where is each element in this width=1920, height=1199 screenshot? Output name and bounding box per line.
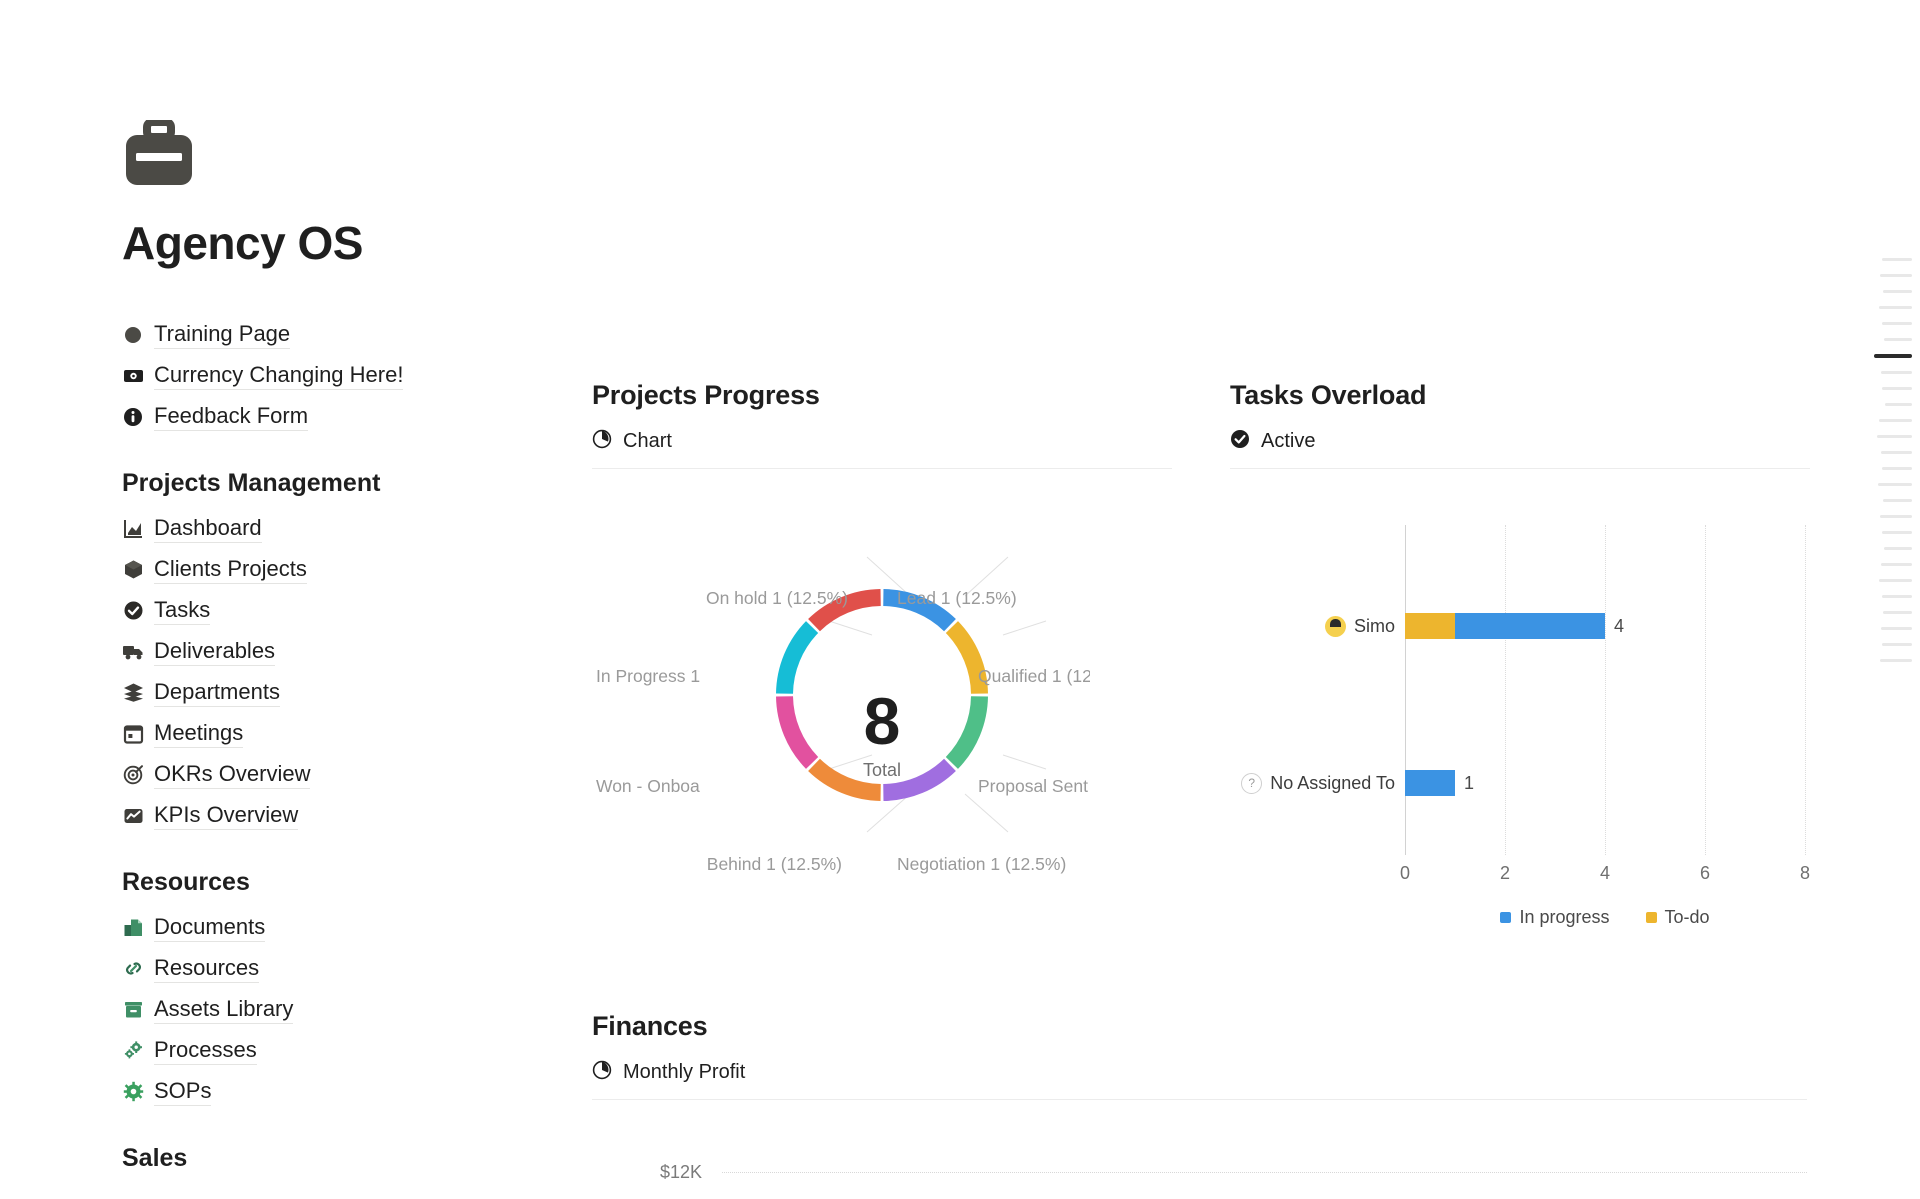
sidebar-item-label: KPIs Overview <box>154 801 298 831</box>
bar-category-no-assigned-to: ? No Assigned To <box>1241 770 1395 796</box>
layers-icon <box>122 682 144 704</box>
tab-label: Monthly Profit <box>623 1061 745 1084</box>
briefcase-icon <box>122 120 196 186</box>
minimap-line[interactable] <box>1881 627 1912 630</box>
link-icon <box>122 958 144 980</box>
x-tick-label: 8 <box>1800 863 1810 884</box>
sidebar-item-meetings[interactable]: Meetings <box>122 713 542 754</box>
sidebar-item-label: Feedback Form <box>154 402 308 432</box>
minimap-line[interactable] <box>1881 563 1912 566</box>
x-tick-label: 6 <box>1700 863 1710 884</box>
sidebar-item-assets-library[interactable]: Assets Library <box>122 989 542 1030</box>
minimap-line[interactable] <box>1879 579 1912 582</box>
bar-plot-area: Simo 4 ? No Assigned To <box>1405 525 1805 855</box>
minimap-line[interactable] <box>1879 306 1912 309</box>
bar-legend: In progress To-do <box>1405 907 1805 928</box>
projects-progress-title: Projects Progress <box>592 380 1172 411</box>
minimap-line[interactable] <box>1880 274 1912 277</box>
tab-label: Chart <box>623 430 672 453</box>
check-circle-icon <box>122 600 144 622</box>
gears-icon <box>122 1040 144 1062</box>
grid-line-2 <box>1505 525 1506 855</box>
bar-segment-in-progress <box>1405 770 1455 796</box>
pie-chart-icon <box>592 429 612 454</box>
table-row[interactable]: Simo 4 <box>1405 613 1624 639</box>
tab-label: Active <box>1261 430 1315 453</box>
question-mark-icon: ? <box>1241 773 1262 794</box>
sidebar-item-training-page[interactable]: Training Page <box>122 314 542 355</box>
bar-value-label: 4 <box>1614 616 1624 637</box>
projects-progress-card: Projects Progress Chart <box>592 380 1172 925</box>
minimap-line[interactable] <box>1882 531 1912 534</box>
grid-line-6 <box>1705 525 1706 855</box>
x-tick-label: 2 <box>1500 863 1510 884</box>
monthly-profit-chart[interactable]: $12K <box>592 1134 1807 1194</box>
minimap-line[interactable] <box>1878 483 1912 486</box>
sidebar-item-clients-projects[interactable]: Clients Projects <box>122 549 542 590</box>
sidebar-item-label: Training Page <box>154 320 290 350</box>
legend-item-to-do[interactable]: To-do <box>1646 907 1710 928</box>
legend-swatch-icon <box>1500 912 1511 923</box>
minimap-line-active[interactable] <box>1874 354 1912 358</box>
sidebar-group-resources: Resources Documents <box>122 868 542 1112</box>
sidebar-item-documents[interactable]: Documents <box>122 907 542 948</box>
package-icon <box>122 559 144 581</box>
minimap-line[interactable] <box>1883 290 1912 293</box>
sidebar-item-label: Dashboard <box>154 514 262 544</box>
grid-line-0 <box>1405 525 1406 855</box>
sidebar-item-label: Meetings <box>154 719 243 749</box>
minimap-line[interactable] <box>1882 322 1912 325</box>
bar-segment-to-do <box>1405 613 1455 639</box>
sidebar-group-sales: Sales <box>122 1144 542 1173</box>
bar-segment-in-progress <box>1455 613 1605 639</box>
sidebar-item-label: Departments <box>154 678 280 708</box>
minimap-line[interactable] <box>1882 387 1912 390</box>
tasks-overload-title: Tasks Overload <box>1230 380 1810 411</box>
grid-line <box>722 1172 1807 1173</box>
legend-item-in-progress[interactable]: In progress <box>1500 907 1609 928</box>
sidebar-item-label: Deliverables <box>154 637 275 667</box>
projects-donut-chart[interactable]: 8 Total Lead 1 (12.5%) Qualified 1 (12 P… <box>592 495 1172 925</box>
sidebar-item-label: Tasks <box>154 596 210 626</box>
legend-label: To-do <box>1665 907 1710 928</box>
donut-slice-qualified[interactable] <box>946 621 988 694</box>
pie-chart-icon <box>592 1060 612 1085</box>
minimap-line[interactable] <box>1883 499 1912 502</box>
minimap-line[interactable] <box>1881 451 1912 454</box>
sidebar-item-label: Processes <box>154 1036 257 1066</box>
tab-chart[interactable]: Chart <box>592 429 1172 469</box>
gear-icon <box>122 1081 144 1103</box>
minimap-line[interactable] <box>1882 643 1912 646</box>
minimap-line[interactable] <box>1883 611 1912 614</box>
bar-chart-icon <box>122 518 144 540</box>
bar-category-label: No Assigned To <box>1270 773 1395 794</box>
donut-slice-in-progress[interactable] <box>776 621 818 694</box>
donut-slice-lead[interactable] <box>883 589 956 631</box>
minimap-line[interactable] <box>1879 419 1912 422</box>
sidebar-item-departments[interactable]: Departments <box>122 672 542 713</box>
main-content: Projects Progress Chart <box>592 380 1822 1194</box>
sidebar-item-okrs-overview[interactable]: OKRs Overview <box>122 754 542 795</box>
sidebar-item-tasks[interactable]: Tasks <box>122 590 542 631</box>
sidebar-item-label: SOPs <box>154 1077 211 1107</box>
sidebar-group-heading: Sales <box>122 1144 542 1173</box>
minimap-line[interactable] <box>1884 338 1912 341</box>
x-tick-label: 4 <box>1600 863 1610 884</box>
sidebar-item-processes[interactable]: Processes <box>122 1030 542 1071</box>
calendar-icon <box>122 723 144 745</box>
sidebar-item-dashboard[interactable]: Dashboard <box>122 508 542 549</box>
sidebar-group-heading: Resources <box>122 868 542 897</box>
donut-total-value: 8 <box>592 688 1172 754</box>
donut-slice-on-hold[interactable] <box>808 589 881 631</box>
x-tick-label: 0 <box>1400 863 1410 884</box>
sidebar-item-deliverables[interactable]: Deliverables <box>122 631 542 672</box>
minimap-line[interactable] <box>1882 595 1912 598</box>
sidebar-item-label: Assets Library <box>154 995 293 1025</box>
minimap-line[interactable] <box>1882 467 1912 470</box>
banknote-icon <box>122 365 144 387</box>
target-icon <box>122 764 144 786</box>
sidebar-item-sops[interactable]: SOPs <box>122 1071 542 1112</box>
sidebar-item-label: Clients Projects <box>154 555 307 585</box>
y-tick-label: $12K <box>660 1162 702 1183</box>
tasks-overload-bar-chart[interactable]: Simo 4 ? No Assigned To <box>1230 495 1810 925</box>
tab-active[interactable]: Active <box>1230 429 1810 469</box>
bar-category-simo: Simo <box>1325 613 1395 639</box>
circle-icon <box>122 324 144 346</box>
minimap-line[interactable] <box>1877 435 1912 438</box>
bar-x-axis: 0 2 4 6 8 <box>1405 863 1805 885</box>
sidebar-item-currency-changing-here[interactable]: Currency Changing Here! <box>122 355 542 396</box>
sidebar-item-label: Currency Changing Here! <box>154 361 403 391</box>
table-row[interactable]: ? No Assigned To 1 <box>1405 770 1474 796</box>
minimap-line[interactable] <box>1880 515 1912 518</box>
grid-line-8 <box>1805 525 1806 855</box>
donut-total-label: Total <box>592 760 1172 781</box>
sidebar-item-label: OKRs Overview <box>154 760 310 790</box>
info-circle-icon <box>122 406 144 428</box>
sidebar-item-kpis-overview[interactable]: KPIs Overview <box>122 795 542 836</box>
minimap-line[interactable] <box>1884 547 1912 550</box>
trend-chart-icon <box>122 805 144 827</box>
minimap-line[interactable] <box>1881 371 1912 374</box>
legend-swatch-icon <box>1646 912 1657 923</box>
bar-value-label: 1 <box>1464 773 1474 794</box>
grid-line-4 <box>1605 525 1606 855</box>
minimap-line[interactable] <box>1880 659 1912 662</box>
dashboard-page: Agency OS Training Page Currency Changin… <box>0 0 1920 1199</box>
minimap-line[interactable] <box>1882 258 1912 261</box>
documents-icon <box>122 917 144 939</box>
sidebar-group-heading: Projects Management <box>122 469 542 498</box>
sidebar-group-projects-management: Projects Management Dashboard <box>122 469 542 836</box>
outline-minimap[interactable] <box>1866 258 1912 662</box>
check-circle-icon <box>1230 429 1250 454</box>
avatar <box>1325 616 1346 637</box>
page-title: Agency OS <box>122 216 542 270</box>
tab-monthly-profit[interactable]: Monthly Profit <box>592 1060 1807 1100</box>
sidebar-item-label: Documents <box>154 913 265 943</box>
tasks-overload-card: Tasks Overload Active <box>1230 380 1810 925</box>
truck-icon <box>122 641 144 663</box>
sidebar-item-feedback-form[interactable]: Feedback Form <box>122 396 542 437</box>
finances-title: Finances <box>592 1011 1807 1042</box>
sidebar-item-label: Resources <box>154 954 259 984</box>
finances-section: Finances Monthly Profit $12K <box>592 1011 1807 1194</box>
bar-category-label: Simo <box>1354 616 1395 637</box>
sidebar-item-resources[interactable]: Resources <box>122 948 542 989</box>
sidebar: Agency OS Training Page Currency Changin… <box>122 120 542 1183</box>
minimap-line[interactable] <box>1885 403 1912 406</box>
cards-row: Projects Progress Chart <box>592 380 1822 925</box>
sidebar-top-links: Training Page Currency Changing Here! <box>122 314 542 437</box>
archive-icon <box>122 999 144 1021</box>
legend-label: In progress <box>1519 907 1609 928</box>
